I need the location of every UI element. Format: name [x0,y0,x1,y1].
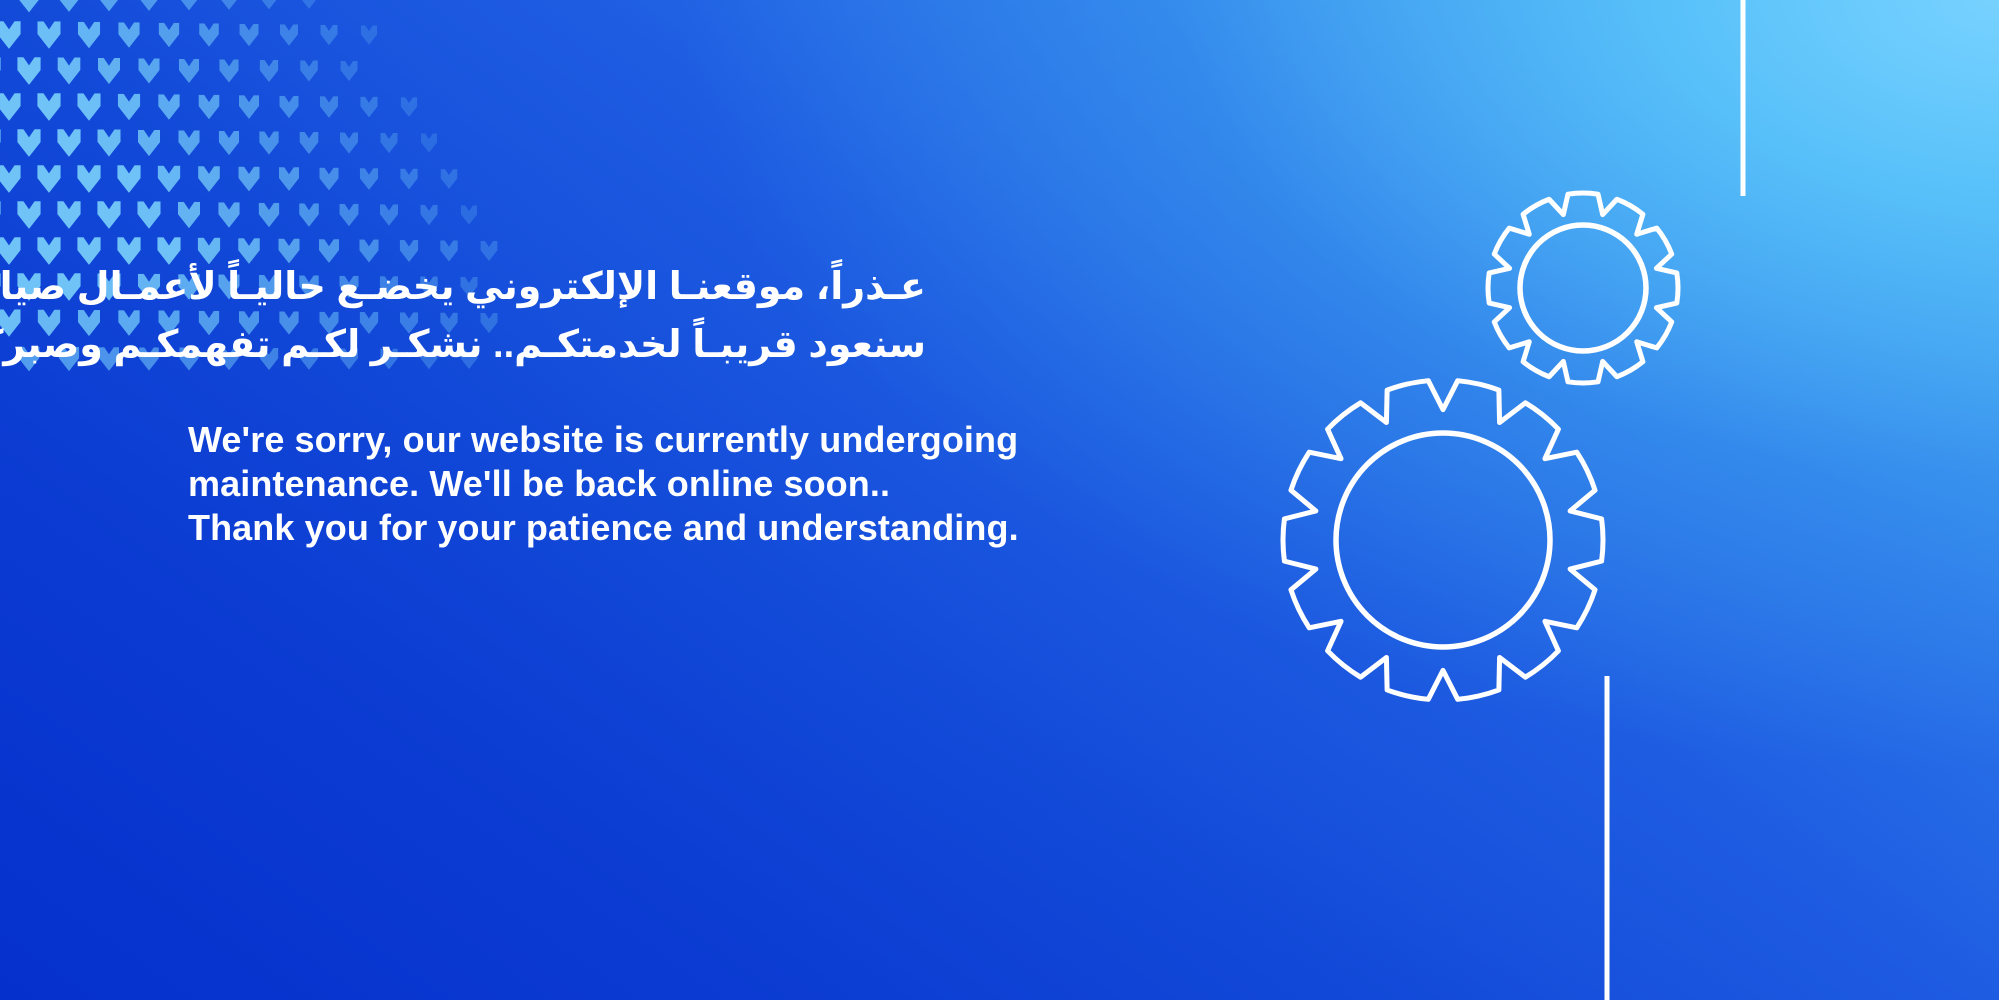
chevron-leaf-icon [118,94,141,121]
chevron-leaf-icon [37,93,61,121]
chevron-leaf-icon [239,167,260,192]
chevron-leaf-icon [137,201,160,228]
chevron-leaf-icon [340,204,359,226]
chevron-leaf-icon [219,131,239,155]
chevron-leaf-icon [179,0,198,10]
small-gear-hub [1520,225,1646,351]
chevron-leaf-icon [58,0,80,12]
chevron-leaf-icon [300,132,319,154]
chevron-leaf-icon [401,97,418,117]
chevron-leaf-icon [97,201,121,229]
chevron-leaf-icon [240,24,259,46]
chevron-leaf-icon [300,60,318,81]
chevron-leaf-icon [158,94,180,120]
english-line-3: Thank you for your patience and understa… [188,506,1188,550]
chevron-leaf-icon [301,0,318,9]
chevron-leaf-icon [279,96,298,119]
chevron-leaf-icon [319,168,338,191]
chevron-leaf-icon [220,0,238,10]
chevron-leaf-icon [380,204,398,225]
chevron-leaf-icon [77,93,100,121]
chevron-leaf-icon [361,25,377,44]
chevron-leaf-icon [138,58,159,83]
chevron-leaf-icon [118,22,140,47]
chevron-leaf-icon [17,129,41,157]
chevron-leaf-icon [0,0,1,13]
chevron-leaf-icon [78,22,100,48]
chevron-leaf-icon [158,166,181,193]
chevron-leaf-icon [259,203,280,227]
chevron-leaf-icon [360,168,378,190]
chevron-leaf-icon [441,169,458,189]
chevron-leaf-icon [57,201,81,229]
arabic-line-2: سنعود قريبـاً لخدمتكـم.. نشكـر لكـم تفهم… [188,316,926,374]
chevron-leaf-icon [199,23,219,46]
chevron-leaf-icon [139,0,159,11]
chevron-leaf-icon [219,59,238,82]
chevron-leaf-icon [57,129,81,157]
chevron-leaf-icon [320,25,337,45]
chevron-leaf-icon [218,202,239,227]
chevron-leaf-icon [198,166,220,192]
chevron-leaf-icon [360,97,377,118]
english-line-2: maintenance. We'll be back online soon.. [188,462,1188,506]
chevron-leaf-icon [280,24,298,45]
chevron-leaf-icon [199,95,220,120]
chevron-leaf-icon [299,203,319,226]
arabic-line-1: عـذراً، موقعنـا الإلكتروني يخضـع حاليـاً… [188,258,926,316]
arabic-message: عـذراً، موقعنـا الإلكتروني يخضـع حاليـاً… [188,258,926,374]
chevron-leaf-icon [320,96,338,118]
large-gear [1283,381,1603,700]
maintenance-page: عـذراً، موقعنـا الإلكتروني يخضـع حاليـاً… [0,0,1999,1000]
chevron-leaf-icon [341,61,358,81]
chevron-leaf-icon [0,165,21,193]
chevron-leaf-icon [260,0,278,9]
chevron-leaf-icon [37,21,60,48]
gear-illustration [1139,0,1999,1000]
chevron-leaf-icon [138,130,160,156]
chevron-leaf-icon [178,202,200,228]
chevron-leaf-icon [0,201,1,229]
chevron-leaf-icon [17,201,41,229]
chevron-leaf-icon [461,205,477,224]
chevron-leaf-icon [97,129,120,156]
chevron-leaf-icon [37,165,61,193]
chevron-leaf-icon [340,132,358,153]
chevron-leaf-icon [77,165,101,193]
chevron-leaf-icon [98,0,119,11]
chevron-leaf-icon [400,169,418,190]
chevron-leaf-icon [98,58,120,84]
english-line-1: We're sorry, our website is currently un… [188,418,1188,462]
chevron-leaf-icon [0,21,21,49]
message-block: عـذراً، موقعنـا الإلكتروني يخضـع حاليـاً… [188,258,1188,550]
chevron-leaf-icon [0,129,1,157]
english-message: We're sorry, our website is currently un… [188,418,1188,550]
chevron-leaf-icon [18,0,41,12]
chevron-leaf-icon [421,133,437,152]
chevron-leaf-icon [117,165,141,193]
large-gear-hub [1336,433,1550,647]
chevron-leaf-icon [17,57,41,85]
chevron-leaf-icon [178,130,199,155]
chevron-leaf-icon [0,57,1,85]
chevron-leaf-icon [159,23,180,47]
chevron-leaf-icon [239,95,259,119]
small-gear [1488,193,1678,383]
chevron-leaf-icon [0,93,21,121]
chevron-leaf-icon [420,205,437,225]
chevron-leaf-icon [58,57,81,84]
chevron-leaf-icon [380,133,397,153]
chevron-leaf-icon [179,59,199,83]
chevron-leaf-icon [260,60,279,82]
chevron-leaf-icon [279,167,299,191]
chevron-leaf-icon [259,131,279,154]
